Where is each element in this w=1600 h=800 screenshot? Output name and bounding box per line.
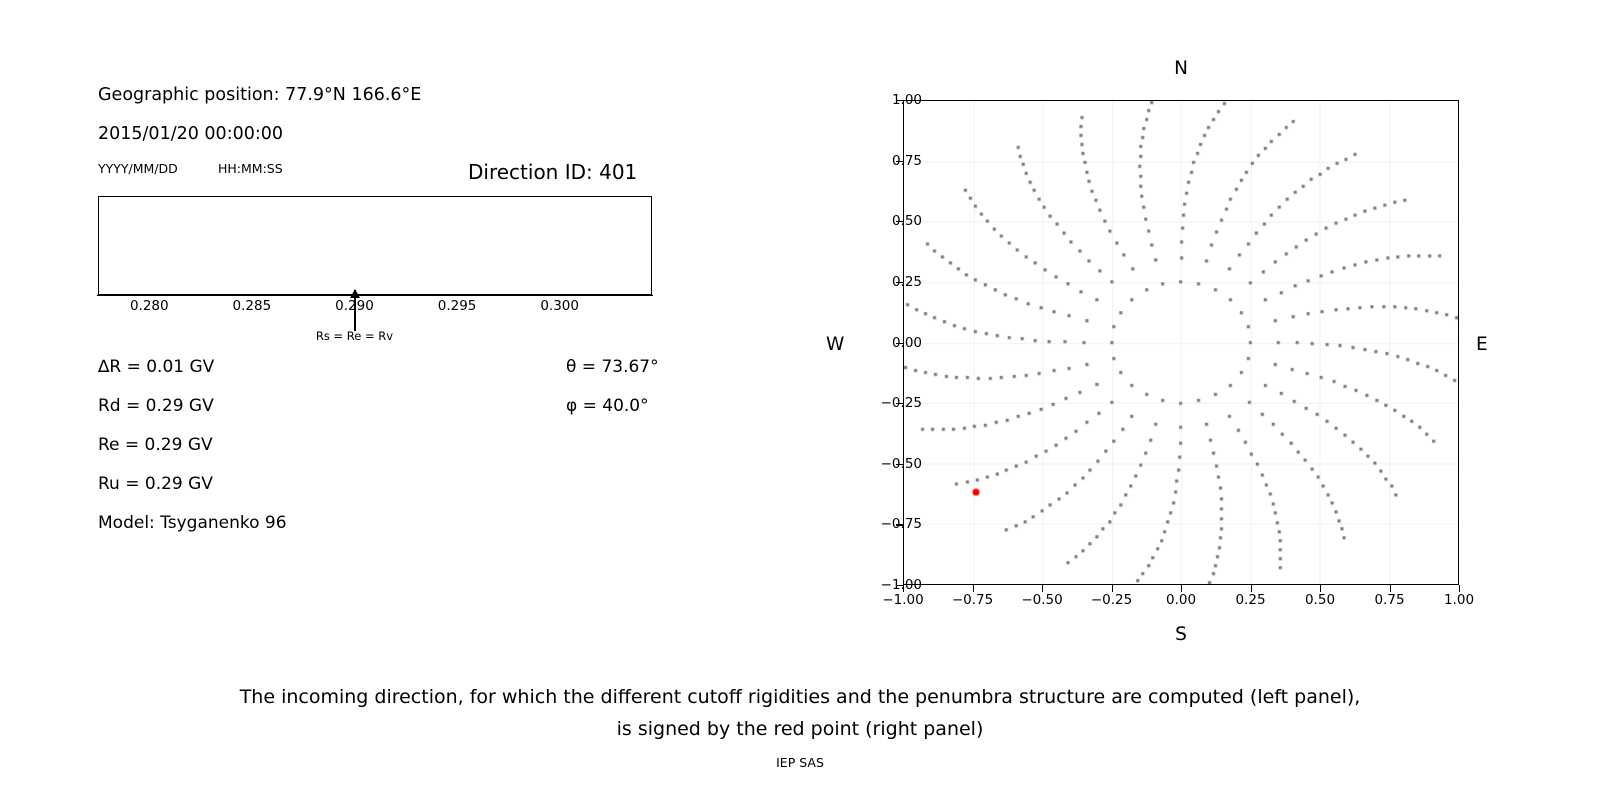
parameter-row: Re = 0.29 GV <box>98 435 213 455</box>
sky-map-plot-frame <box>903 100 1459 585</box>
parameter-row: ∆R = 0.01 GV <box>98 357 214 377</box>
sky-map-x-tick-mark <box>1042 585 1043 592</box>
sky-map-x-tick-label: 0.50 <box>1305 592 1335 608</box>
sky-map-x-tick-label: 0.75 <box>1374 592 1404 608</box>
geographic-position-text: Geographic position: 77.9°N 166.6°E <box>98 85 421 105</box>
sky-map-y-tick-mark <box>896 221 903 222</box>
sky-map-x-tick-label: −0.50 <box>1021 592 1062 608</box>
sky-map-x-tick-label: 1.00 <box>1444 592 1474 608</box>
sky-map-x-tick-mark <box>1459 585 1460 592</box>
sky-map-x-tick-label: −1.00 <box>882 592 923 608</box>
sky-map-y-tick-mark <box>896 464 903 465</box>
parameter-row: φ = 40.0° <box>566 396 649 416</box>
compass-label-north: N <box>1174 58 1188 79</box>
right-panel: −1.00−0.75−0.50−0.250.000.250.500.751.00… <box>790 0 1600 660</box>
direction-id-text: Direction ID: 401 <box>468 160 637 184</box>
sky-map-x-tick-mark <box>903 585 904 592</box>
sky-map-x-tick-label: 0.00 <box>1166 592 1196 608</box>
sky-map-y-tick-mark <box>896 343 903 344</box>
compass-label-west: W <box>826 334 844 355</box>
footer-text: IEP SAS <box>0 755 1600 770</box>
datetime-text: 2015/01/20 00:00:00 <box>98 124 283 144</box>
sky-map-y-tick-mark <box>896 100 903 101</box>
sky-map-x-tick-mark <box>1181 585 1182 592</box>
sky-map-x-tick-label: −0.25 <box>1091 592 1132 608</box>
parameter-row: Ru = 0.29 GV <box>98 474 213 494</box>
caption-line-1: The incoming direction, for which the di… <box>0 686 1600 708</box>
parameter-row: θ = 73.67° <box>566 357 659 377</box>
sky-map-x-tick-label: −0.75 <box>952 592 993 608</box>
sky-map-x-tick-mark <box>1251 585 1252 592</box>
penumbra-structure-chart: 0.2800.2850.2900.2950.300 Rs = Re = Rv <box>98 196 652 295</box>
sky-map-x-tick-label: 0.25 <box>1235 592 1265 608</box>
compass-label-east: E <box>1476 334 1488 355</box>
penumbra-tick-label: 0.280 <box>130 298 169 314</box>
date-format-hint: YYYY/MM/DD <box>98 161 178 176</box>
sky-map-x-tick-mark <box>973 585 974 592</box>
caption-line-2: is signed by the red point (right panel) <box>0 718 1600 740</box>
penumbra-tick-label: 0.285 <box>233 298 272 314</box>
sky-map-y-tick-mark <box>896 585 903 586</box>
sky-map-x-tick-mark <box>1390 585 1391 592</box>
parameter-row: Model: Tsyganenko 96 <box>98 513 287 533</box>
left-panel: Geographic position: 77.9°N 166.6°E 2015… <box>0 0 760 660</box>
rigidity-marker-arrow-icon <box>354 290 355 331</box>
time-format-hint: HH:MM:SS <box>218 161 283 176</box>
compass-label-south: S <box>1175 624 1187 645</box>
penumbra-tick-label: 0.295 <box>438 298 477 314</box>
sky-map-y-tick-mark <box>896 161 903 162</box>
penumbra-plot-frame <box>98 196 652 295</box>
sky-map-y-tick-mark <box>896 403 903 404</box>
sky-map-x-tick-mark <box>1320 585 1321 592</box>
sky-map-x-tick-mark <box>1112 585 1113 592</box>
penumbra-x-axis <box>97 295 653 296</box>
parameter-row: Rd = 0.29 GV <box>98 396 214 416</box>
sky-map-scatter-canvas <box>904 101 1458 584</box>
sky-map-y-tick-mark <box>896 524 903 525</box>
penumbra-x-axis-label: Rs = Re = Rv <box>316 329 393 343</box>
penumbra-tick-label: 0.300 <box>540 298 579 314</box>
sky-map-y-tick-mark <box>896 282 903 283</box>
